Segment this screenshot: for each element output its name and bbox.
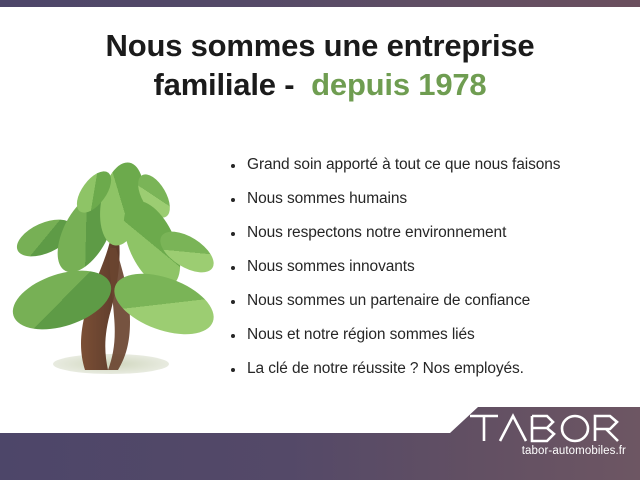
brand-website: tabor-automobiles.fr <box>468 445 628 457</box>
list-item: La clé de notre réussite ? Nos employés. <box>231 352 631 386</box>
top-accent-bar <box>0 0 640 7</box>
list-item: Nous sommes innovants <box>231 250 631 284</box>
brand-logo[interactable]: tabor-automobiles.fr <box>468 413 628 457</box>
headline-line-2-prefix: familiale <box>154 67 276 102</box>
list-item: Nous sommes humains <box>231 182 631 216</box>
footer-bar: tabor-automobiles.fr <box>0 400 640 480</box>
bullet-dot-icon <box>231 198 235 202</box>
page-title: Nous sommes une entreprise familiale - d… <box>28 26 612 104</box>
headline-line-2: familiale - depuis 1978 <box>28 65 612 104</box>
list-item: Nous sommes un partenaire de confiance <box>231 284 631 318</box>
tree-illustration <box>12 152 218 388</box>
bullet-dot-icon <box>231 266 235 270</box>
list-item: Nous et notre région sommes liés <box>231 318 631 352</box>
bullet-dot-icon <box>231 334 235 338</box>
slide-canvas: Nous sommes une entreprise familiale - d… <box>0 0 640 480</box>
headline-dash: - <box>284 67 294 102</box>
list-item-label: Nous sommes innovants <box>247 258 415 276</box>
headline-accent: depuis 1978 <box>311 67 486 102</box>
list-item-label: Grand soin apporté à tout ce que nous fa… <box>247 156 560 174</box>
benefit-list: Grand soin apporté à tout ce que nous fa… <box>231 148 631 386</box>
list-item-label: Nous et notre région sommes liés <box>247 326 475 344</box>
list-item-label: La clé de notre réussite ? Nos employés. <box>247 360 524 378</box>
bullet-dot-icon <box>231 164 235 168</box>
list-item-label: Nous respectons notre environnement <box>247 224 506 242</box>
list-item: Nous respectons notre environnement <box>231 216 631 250</box>
bullet-dot-icon <box>231 300 235 304</box>
bullet-dot-icon <box>231 368 235 372</box>
list-item-label: Nous sommes humains <box>247 190 407 208</box>
bullet-dot-icon <box>231 232 235 236</box>
tabor-wordmark <box>468 413 620 443</box>
list-item: Grand soin apporté à tout ce que nous fa… <box>231 148 631 182</box>
headline-line-1: Nous sommes une entreprise <box>28 26 612 65</box>
list-item-label: Nous sommes un partenaire de confiance <box>247 292 530 310</box>
